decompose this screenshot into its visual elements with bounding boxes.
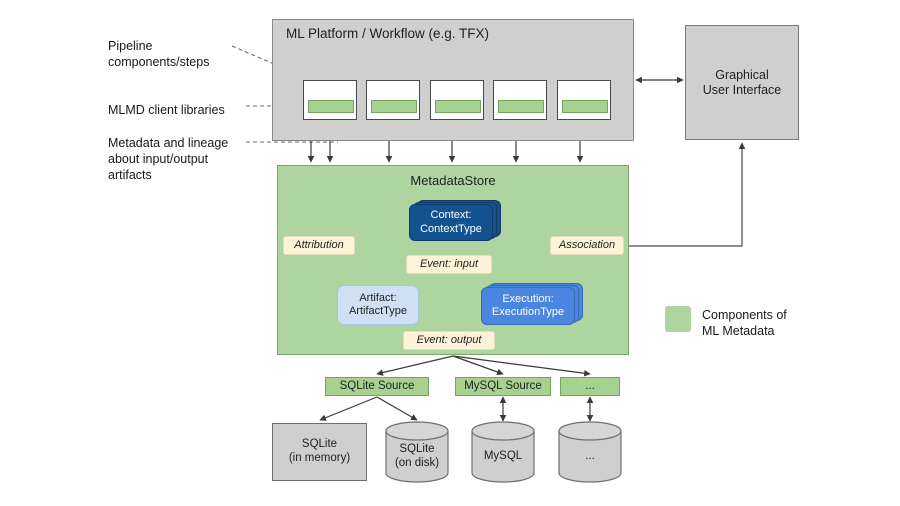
association-gui-connector xyxy=(624,143,742,246)
gui-label-line2: User Interface xyxy=(703,83,782,98)
mysql-cylinder: MySQL xyxy=(471,421,535,483)
mlmd-client-library-bar-4 xyxy=(498,100,544,113)
other-backend-cylinder: ... xyxy=(558,421,622,483)
artifact-label-line2: ArtifactType xyxy=(349,305,407,318)
event-input-tag: Event: input xyxy=(406,255,492,274)
metadata-store-title: MetadataStore xyxy=(277,173,629,188)
sqlite-on-disk-line2: (on disk) xyxy=(395,457,439,469)
execution-label-line2: ExecutionType xyxy=(492,306,564,319)
sqlite-in-memory-line1: SQLite xyxy=(302,438,337,452)
mlmd-client-library-bar-1 xyxy=(308,100,354,113)
sqlite-source-chip[interactable]: SQLite Source xyxy=(325,377,429,396)
store-to-sources-arrows xyxy=(377,356,590,374)
execution-node[interactable]: Execution: ExecutionType xyxy=(481,287,575,325)
ml-platform-title: ML Platform / Workflow (e.g. TFX) xyxy=(286,26,489,41)
other-source-chip[interactable]: ... xyxy=(560,377,620,396)
artifact-node[interactable]: Artifact: ArtifactType xyxy=(337,285,419,325)
mlmd-client-library-bar-3 xyxy=(435,100,481,113)
sqlite-on-disk-line1: SQLite xyxy=(399,443,434,455)
event-output-tag: Event: output xyxy=(403,331,495,350)
sqlite-source-arrows xyxy=(320,397,417,420)
sqlite-in-memory-line2: (in memory) xyxy=(289,452,350,466)
annotation-pipeline-components: Pipeline components/steps xyxy=(108,38,209,70)
legend-label: Components of ML Metadata xyxy=(702,307,787,340)
mlmd-client-library-bar-5 xyxy=(562,100,608,113)
gui-label-line1: Graphical xyxy=(715,68,769,83)
attribution-tag: Attribution xyxy=(283,236,355,255)
sqlite-in-memory-box: SQLite (in memory) xyxy=(272,423,367,481)
graphical-user-interface-box[interactable]: Graphical User Interface xyxy=(685,25,799,140)
mysql-source-chip[interactable]: MySQL Source xyxy=(455,377,551,396)
mlmd-client-library-bar-2 xyxy=(371,100,417,113)
context-node[interactable]: Context: ContextType xyxy=(409,204,493,241)
mysql-label: MySQL xyxy=(484,450,522,462)
other-backend-label: ... xyxy=(585,450,595,462)
association-tag: Association xyxy=(550,236,624,255)
context-label-line1: Context: xyxy=(431,209,472,222)
execution-label-line1: Execution: xyxy=(502,293,553,306)
legend-color-swatch xyxy=(665,306,691,332)
annotation-mlmd-client-libraries: MLMD client libraries xyxy=(108,102,225,118)
diagram-canvas: ML Platform / Workflow (e.g. TFX) Graphi… xyxy=(0,0,900,506)
artifact-label-line1: Artifact: xyxy=(359,292,396,305)
sqlite-on-disk-cylinder: SQLite (on disk) xyxy=(385,421,449,483)
context-label-line2: ContextType xyxy=(420,223,482,236)
annotation-metadata-lineage: Metadata and lineage about input/output … xyxy=(108,135,228,183)
